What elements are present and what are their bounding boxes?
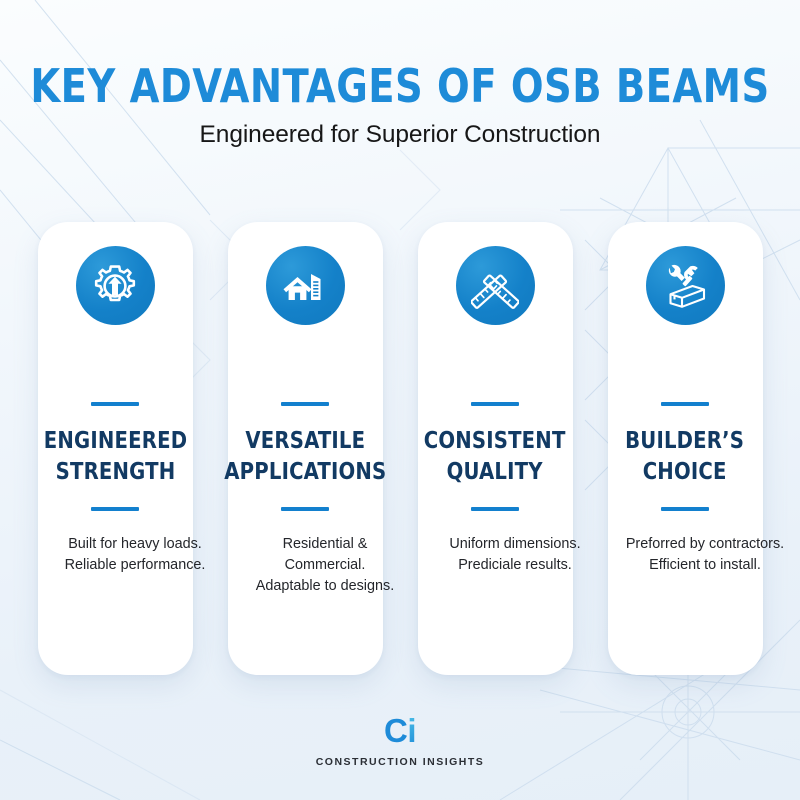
card-body: Preforred by contractors. Efficient to i… xyxy=(608,534,800,576)
card-title: BUILDER’S CHOICE xyxy=(625,426,744,487)
card-body: Residential & Commercial. Adaptable to d… xyxy=(228,534,423,597)
card-body: Built for heavy loads. Reliable performa… xyxy=(38,534,233,576)
divider-top xyxy=(91,402,139,406)
advantage-card-list: ENGINEERED STRENGTH Built for heavy load… xyxy=(0,222,800,678)
divider-top xyxy=(281,402,329,406)
header: KEY ADVANTAGES OF OSB BEAMS Engineered f… xyxy=(0,62,800,149)
logo-ci: Ci xyxy=(384,714,416,747)
brand-name: CONSTRUCTION INSIGHTS xyxy=(0,756,800,768)
divider-bottom xyxy=(91,507,139,511)
logo-letter-i: i xyxy=(407,712,416,749)
page-title: KEY ADVANTAGES OF OSB BEAMS xyxy=(28,62,772,110)
logo-letter-c: C xyxy=(384,712,407,749)
footer-branding: Ci CONSTRUCTION INSIGHTS xyxy=(0,714,800,768)
divider-top xyxy=(471,402,519,406)
crossed-rulers-icon xyxy=(456,246,535,325)
divider-top xyxy=(661,402,709,406)
card-title: ENGINEERED STRENGTH xyxy=(43,426,186,487)
divider-bottom xyxy=(281,507,329,511)
advantage-card-engineered-strength[interactable]: ENGINEERED STRENGTH Built for heavy load… xyxy=(38,222,193,675)
advantage-card-versatile-applications[interactable]: VERSATILE APPLICATIONS Residential & Com… xyxy=(228,222,383,675)
divider-bottom xyxy=(471,507,519,511)
divider-bottom xyxy=(661,507,709,511)
house-building-icon xyxy=(266,246,345,325)
gear-up-arrow-icon xyxy=(76,246,155,325)
card-title: VERSATILE APPLICATIONS xyxy=(224,426,386,487)
infographic-canvas: KEY ADVANTAGES OF OSB BEAMS Engineered f… xyxy=(0,0,800,800)
advantage-card-consistent-quality[interactable]: CONSISTENT QUALITY Uniform dimensions. P… xyxy=(418,222,573,675)
wrench-hammer-beam-icon xyxy=(646,246,725,325)
card-title: CONSISTENT QUALITY xyxy=(424,426,566,487)
page-subtitle: Engineered for Superior Construction xyxy=(0,121,800,149)
card-body: Uniform dimensions. Prediciale results. xyxy=(418,534,613,576)
advantage-card-builders-choice[interactable]: BUILDER’S CHOICE Preforred by contractor… xyxy=(608,222,763,675)
